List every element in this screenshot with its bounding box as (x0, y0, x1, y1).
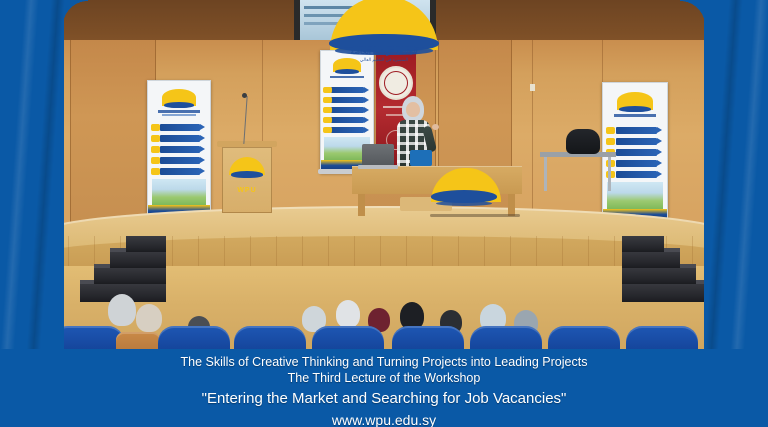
audience-head (336, 300, 360, 328)
wpu-logo-watermark-main: الجامعة الوطنية الخاصة المتميزة في التعل… (325, 0, 443, 50)
banner-campus-photo (607, 182, 663, 209)
audience-head (136, 304, 162, 332)
lectern-brand-initials: WPU (227, 187, 267, 194)
laptop-base (358, 165, 398, 169)
lectern-logo-wave (231, 171, 263, 178)
presenter-face (406, 102, 420, 117)
caption-website-url: www.wpu.edu.sy (332, 412, 436, 427)
light-switch (530, 84, 535, 91)
frame-corner-top-left (62, 0, 88, 26)
caption-lecture-title: "Entering the Market and Searching for J… (202, 390, 567, 409)
presenter-hand (432, 124, 439, 130)
wall-panel (70, 40, 156, 230)
logo-arabic-name: الجامعة الوطنية الخاصة (324, 48, 444, 56)
wooden-lectern: WPU (222, 147, 272, 213)
logo-subtitle: المتميزة في التعليم العالي (319, 57, 449, 63)
blue-box-on-table (410, 150, 432, 166)
audience-head (108, 294, 136, 326)
caption-bar: The Skills of Creative Thinking and Turn… (0, 349, 768, 427)
wall-seam (532, 40, 533, 230)
caption-line-1: The Skills of Creative Thinking and Turn… (181, 355, 588, 371)
lectern-arabic-text (227, 181, 267, 186)
promo-image-root: WPU (0, 0, 768, 427)
black-bag (566, 129, 600, 154)
roll-up-banner-left (147, 80, 211, 219)
microphone-head (242, 93, 247, 98)
caption-line-2: The Third Lecture of the Workshop (288, 371, 481, 387)
cable (430, 214, 520, 217)
laptop-screen (362, 144, 394, 166)
frame-corner-top-right (680, 0, 706, 26)
banner-campus-photo (152, 179, 207, 205)
wpu-logo-watermark-table (428, 168, 504, 202)
event-photograph: WPU (62, 0, 706, 352)
seated-audience (62, 296, 706, 352)
